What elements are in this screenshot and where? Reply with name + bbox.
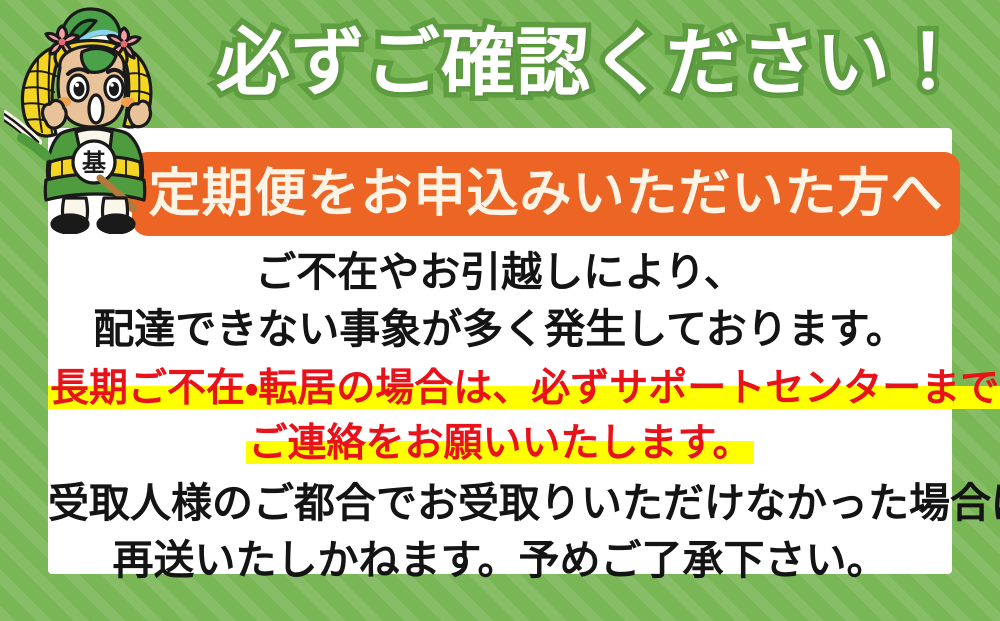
body-line-6-text: 再送いたしかねます。予めご了承下さい。	[113, 537, 888, 583]
body-line-3: 長期ご不在・転居の場合は、必ずサポートセンターまで	[48, 366, 952, 412]
callout-label: 定期便をお申込みいただいた方へ	[148, 168, 943, 220]
body-line-5-text: 受取人様のご都合でお受取りいただけなかった場合は、	[48, 480, 1000, 526]
body-line-2-text: 配達できない事象が多く発生しております。	[93, 306, 906, 352]
notice-banner: 必ずご確認ください！ 定期便をお申込みいただいた方へ ご不在やお引越しにより、 …	[0, 0, 1000, 621]
body-text-block: ご不在やお引越しにより、 配達できない事象が多く発生しております。 長期ご不在・…	[48, 248, 952, 585]
body-line-1: ご不在やお引越しにより、	[48, 248, 952, 296]
svg-text:基: 基	[82, 149, 107, 177]
body-line-5: 受取人様のご都合でお受取りいただけなかった場合は、	[48, 479, 952, 527]
body-line-2: 配達できない事象が多く発生しております。	[48, 305, 952, 353]
highlight-mark-1: 長期ご不在・転居の場合は、必ずサポートセンターまで	[48, 366, 1000, 412]
header-title: 必ずご確認ください！	[196, 8, 986, 118]
body-line-6: 再送いたしかねます。予めご了承下さい。	[48, 536, 952, 584]
callout-banner: 定期便をお申込みいただいた方へ	[132, 152, 960, 236]
mascot-character-icon: 基	[4, 2, 180, 234]
body-line-4: ご連絡をお願いいたします。	[48, 421, 952, 467]
body-line-1-text: ご不在やお引越しにより、	[255, 249, 745, 295]
body-line-3-text: 長期ご不在・転居の場合は、必ずサポートセンターまで	[50, 367, 999, 410]
highlight-mark-2: ご連絡をお願いいたします。	[246, 421, 753, 467]
body-line-4-text: ご連絡をお願いいたします。	[248, 422, 751, 465]
